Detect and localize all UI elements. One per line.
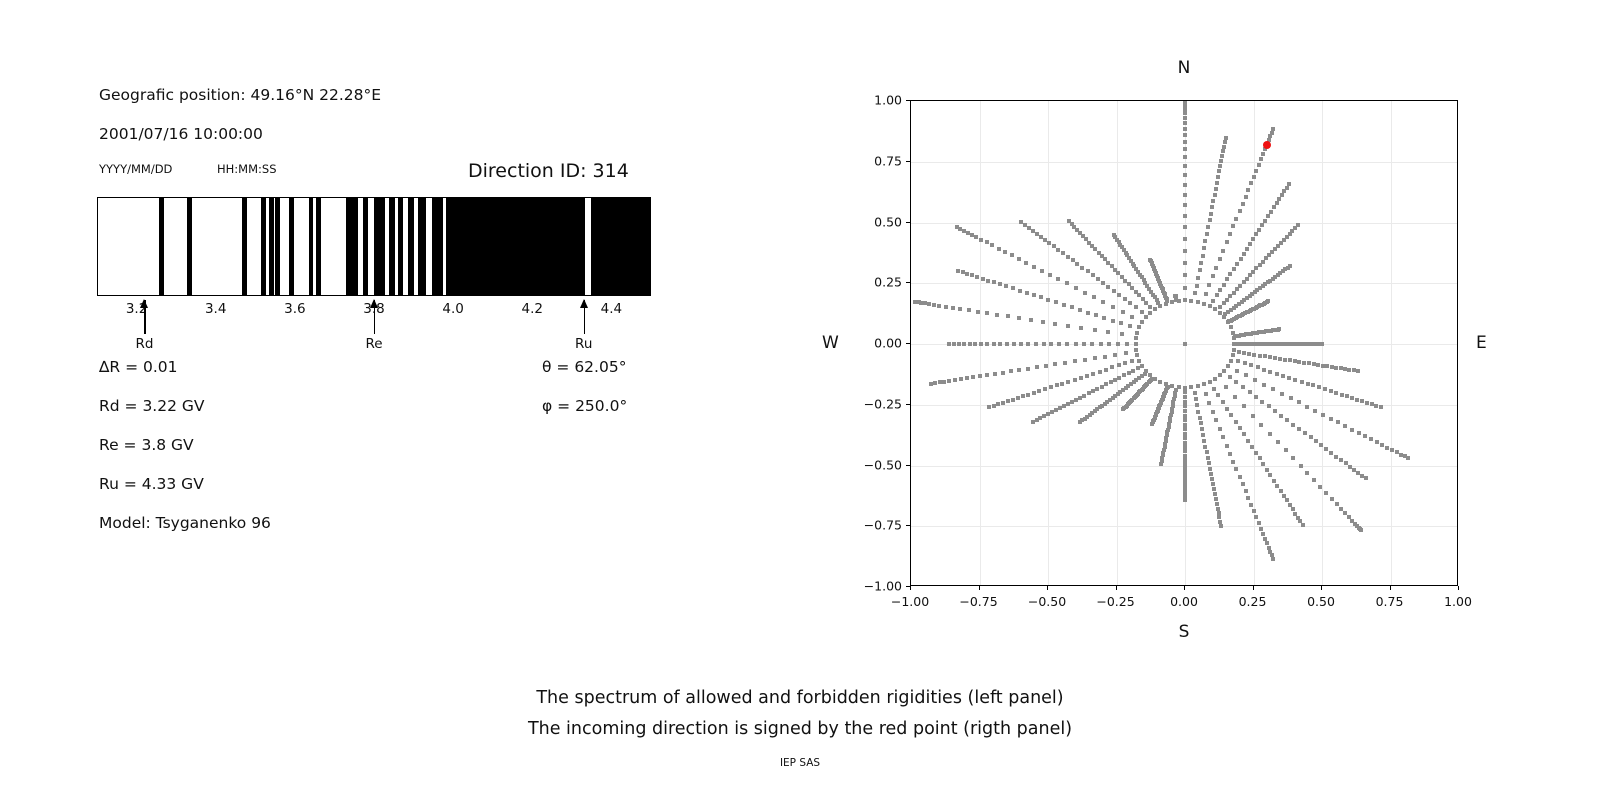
scatter-point <box>985 342 989 346</box>
x-tick-mark <box>1184 586 1185 590</box>
scatter-point <box>1116 271 1120 275</box>
scatter-point <box>1329 389 1333 393</box>
scatter-point <box>1218 305 1222 309</box>
scatter-point <box>978 374 982 378</box>
scatter-point <box>1214 418 1218 422</box>
scatter-point <box>1074 398 1078 402</box>
scatter-point <box>1309 435 1313 439</box>
scatter-point <box>1031 229 1035 233</box>
scatter-point <box>1140 310 1144 314</box>
forbidden-band <box>363 198 368 295</box>
scatter-point <box>1196 300 1200 304</box>
scatter-point <box>1050 410 1054 414</box>
scatter-point <box>1232 291 1236 295</box>
scatter-point <box>1183 155 1187 159</box>
scatter-point <box>975 275 979 279</box>
direction-map-x-tick-label: −1.00 <box>891 594 929 609</box>
scatter-point <box>1090 342 1094 346</box>
scatter-point <box>1083 291 1087 295</box>
scatter-point <box>1312 478 1316 482</box>
gridline-horizontal <box>911 526 1457 527</box>
marker-label: Re <box>365 336 382 352</box>
scatter-point <box>1226 364 1230 368</box>
scatter-point <box>992 404 996 408</box>
scatter-point <box>1043 238 1047 242</box>
scatter-point <box>1284 448 1288 452</box>
compass-south: S <box>1179 622 1190 642</box>
scatter-point <box>1121 310 1125 314</box>
scatter-point <box>1006 314 1010 318</box>
scatter-point <box>1236 359 1240 363</box>
scatter-point <box>1029 318 1033 322</box>
scatter-point <box>1092 295 1096 299</box>
scatter-point <box>1379 405 1383 409</box>
scatter-point <box>1208 218 1212 222</box>
scatter-point <box>1221 400 1225 404</box>
scatter-point <box>1058 406 1062 410</box>
scatter-point <box>1011 286 1015 290</box>
scatter-point <box>1037 389 1041 393</box>
scatter-point <box>985 240 989 244</box>
scatter-point <box>1067 219 1071 223</box>
y-tick-mark <box>906 404 910 405</box>
scatter-point <box>1196 410 1200 414</box>
scatter-point <box>1183 116 1187 120</box>
scatter-point <box>1055 383 1059 387</box>
scatter-point <box>1098 370 1102 374</box>
scatter-point <box>962 229 966 233</box>
scatter-point <box>932 303 936 307</box>
scatter-point <box>985 311 989 315</box>
scatter-point <box>1091 273 1095 277</box>
scatter-point <box>1054 408 1058 412</box>
scatter-point <box>1112 289 1116 293</box>
scatter-point <box>1095 387 1099 391</box>
scatter-point <box>1198 268 1202 272</box>
scatter-point <box>1276 440 1280 444</box>
scatter-point <box>1262 383 1266 387</box>
scatter-point <box>1065 281 1069 285</box>
y-tick-mark <box>906 222 910 223</box>
scatter-point <box>1206 456 1210 460</box>
scatter-point <box>1258 456 1262 460</box>
scatter-point <box>1216 393 1220 397</box>
direction-map-x-tick-label: 0.75 <box>1376 594 1404 609</box>
scatter-point <box>1297 427 1301 431</box>
scatter-point <box>1273 409 1277 413</box>
direction-map-y-tick-label: 1.00 <box>848 93 902 108</box>
scatter-point <box>1229 413 1233 417</box>
scatter-point <box>1229 359 1233 363</box>
x-tick-mark <box>1047 586 1048 590</box>
scatter-point <box>1261 152 1265 156</box>
scatter-point <box>1334 391 1338 395</box>
scatter-point <box>1285 498 1289 502</box>
scatter-point <box>1148 305 1152 309</box>
scatter-point <box>1222 369 1226 373</box>
direction-map-x-tick-label: −0.75 <box>959 594 997 609</box>
scatter-point <box>1128 324 1132 328</box>
scatter-point <box>1047 241 1051 245</box>
scatter-point <box>1220 154 1224 158</box>
figure-canvas: Geografic position: 49.16°N 22.28°E 2001… <box>0 0 1600 800</box>
scatter-point <box>1237 350 1241 354</box>
scatter-point <box>1183 237 1187 241</box>
scatter-point <box>1329 417 1333 421</box>
scatter-point <box>1066 402 1070 406</box>
scatter-point <box>1242 404 1246 408</box>
scatter-point <box>1183 418 1187 422</box>
scatter-point <box>1012 342 1016 346</box>
scatter-point <box>1205 232 1209 236</box>
scatter-point <box>1218 164 1222 168</box>
scatter-point <box>1100 385 1104 389</box>
scatter-point <box>1324 447 1328 451</box>
scatter-point <box>1183 147 1187 151</box>
scatter-point <box>979 342 983 346</box>
scatter-point <box>1257 163 1261 167</box>
scatter-point <box>1247 352 1251 356</box>
scatter-point <box>1183 183 1187 187</box>
forbidden-band <box>398 198 404 295</box>
scatter-point <box>1018 289 1022 293</box>
scatter-point <box>1202 302 1206 306</box>
scatter-point <box>1079 376 1083 380</box>
scatter-point <box>1128 301 1132 305</box>
scatter-point <box>1218 427 1222 431</box>
scatter-point <box>966 231 970 235</box>
scatter-point <box>1056 277 1060 281</box>
scatter-point <box>1273 356 1277 360</box>
scatter-point <box>1111 319 1115 323</box>
scatter-point <box>965 376 969 380</box>
scatter-point <box>1135 331 1139 335</box>
scatter-point <box>970 233 974 237</box>
scatter-point <box>1034 342 1038 346</box>
scatter-point <box>1301 523 1305 527</box>
scatter-point <box>1183 414 1187 418</box>
scatter-point <box>1321 413 1325 417</box>
scatter-point <box>1285 418 1289 422</box>
scatter-point <box>1039 295 1043 299</box>
scatter-point <box>1183 121 1187 125</box>
scatter-point <box>1125 342 1129 346</box>
direction-map-y-tick-label: −0.75 <box>848 518 902 533</box>
scatter-point <box>1070 305 1074 309</box>
scatter-point <box>1046 298 1050 302</box>
scatter-point <box>1252 353 1256 357</box>
scatter-point <box>1183 498 1187 502</box>
scatter-point <box>1261 532 1265 536</box>
scatter-point <box>1248 242 1252 246</box>
scatter-point <box>987 405 991 409</box>
scatter-point <box>1225 240 1229 244</box>
scatter-point <box>1268 370 1272 374</box>
scatter-point <box>1001 371 1005 375</box>
scatter-point <box>1215 502 1219 506</box>
scatter-point <box>1024 261 1028 265</box>
scatter-point <box>951 306 955 310</box>
scatter-point <box>1065 342 1069 346</box>
scatter-point <box>1215 293 1219 297</box>
scatter-point <box>1021 394 1025 398</box>
scatter-point <box>1231 460 1235 464</box>
scatter-point <box>1099 342 1103 346</box>
scatter-point <box>1213 492 1217 496</box>
param-theta: θ = 62.05° <box>542 358 626 376</box>
scatter-point <box>1199 421 1203 425</box>
scatter-point <box>1124 351 1128 355</box>
scatter-point <box>1229 325 1233 329</box>
scatter-point <box>1183 273 1187 277</box>
forbidden-band <box>261 198 266 295</box>
scatter-point <box>1206 225 1210 229</box>
scatter-point <box>961 270 965 274</box>
scatter-point <box>1043 387 1047 391</box>
scatter-point <box>1216 175 1220 179</box>
forbidden-band <box>309 198 314 295</box>
scatter-point <box>1334 455 1338 459</box>
scatter-point <box>1066 380 1070 384</box>
scatter-point <box>1183 140 1187 144</box>
scatter-point <box>1406 456 1410 460</box>
scatter-point <box>1183 390 1187 394</box>
scatter-point <box>990 243 994 247</box>
scatter-point <box>1263 537 1267 541</box>
scatter-point <box>1195 403 1199 407</box>
scatter-point <box>1074 286 1078 290</box>
scatter-point <box>1183 225 1187 229</box>
y-tick-mark <box>906 161 910 162</box>
scatter-point <box>1259 527 1263 531</box>
scatter-point <box>1096 277 1100 281</box>
scatter-point <box>1267 404 1271 408</box>
scatter-point <box>1390 448 1394 452</box>
scatter-point <box>1183 436 1187 440</box>
scatter-point <box>1117 376 1121 380</box>
scatter-point <box>1251 414 1255 418</box>
scatter-point <box>1213 307 1217 311</box>
scatter-point <box>1016 396 1020 400</box>
scatter-point <box>1281 374 1285 378</box>
scatter-point <box>1218 373 1222 377</box>
forbidden-band <box>374 198 385 295</box>
scatter-point <box>1219 524 1223 528</box>
scatter-point <box>1222 301 1226 305</box>
scatter-point <box>1238 426 1242 430</box>
marker-label: Rd <box>136 336 154 352</box>
scatter-point <box>986 279 990 283</box>
scatter-point <box>1211 482 1215 486</box>
scatter-point <box>1062 404 1066 408</box>
scatter-point <box>1343 424 1347 428</box>
scatter-point <box>1117 293 1121 297</box>
scatter-point <box>1137 359 1141 363</box>
x-tick-mark <box>1253 586 1254 590</box>
forbidden-band <box>346 198 358 295</box>
scatter-point <box>1268 473 1272 477</box>
scatter-point <box>1011 398 1015 402</box>
scatter-point <box>1183 203 1187 207</box>
scatter-point <box>1242 432 1246 436</box>
scatter-point <box>1241 482 1245 486</box>
scatter-point <box>1324 491 1328 495</box>
scatter-point <box>1056 248 1060 252</box>
scatter-point <box>1117 363 1121 367</box>
scatter-point <box>1238 209 1242 213</box>
scatter-point <box>1380 443 1384 447</box>
scatter-point <box>1102 316 1106 320</box>
scatter-point <box>1148 258 1152 262</box>
scatter-point <box>947 342 951 346</box>
direction-map-y-tick-label: 0.25 <box>848 275 902 290</box>
geographic-position: Geografic position: 49.16°N 22.28°E <box>99 86 381 104</box>
datetime-label: 2001/07/16 10:00:00 <box>99 125 263 143</box>
scatter-point <box>1222 315 1226 319</box>
direction-map-y-tick-label: 0.50 <box>848 214 902 229</box>
scatter-point <box>1233 395 1237 399</box>
scatter-point <box>1110 365 1114 369</box>
scatter-point <box>1345 394 1349 398</box>
arrow-up-icon <box>140 299 148 308</box>
scatter-point <box>1262 368 1266 372</box>
scatter-point <box>1196 384 1200 388</box>
forbidden-band <box>316 198 321 295</box>
scatter-point <box>1199 261 1203 265</box>
scatter-point <box>998 342 1002 346</box>
scatter-point <box>1296 223 1300 227</box>
spectrum-x-tick-label: 3.4 <box>205 301 226 317</box>
scatter-point <box>1130 315 1134 319</box>
scatter-point <box>1044 364 1048 368</box>
arrow-up-icon <box>370 299 378 308</box>
scatter-point <box>1183 111 1187 115</box>
scatter-point <box>1221 149 1225 153</box>
scatter-point <box>1195 284 1199 288</box>
scatter-point <box>953 378 957 382</box>
scatter-point <box>1280 193 1284 197</box>
scatter-point <box>1183 342 1187 346</box>
scatter-point <box>1213 193 1217 197</box>
scatter-point <box>981 277 985 281</box>
scatter-point <box>1004 284 1008 288</box>
scatter-point <box>1119 321 1123 325</box>
spectrum-x-axis: 3.23.43.63.84.04.24.4RdReRu <box>97 296 651 356</box>
scatter-point <box>1109 380 1113 384</box>
scatter-point <box>1246 188 1250 192</box>
scatter-point <box>1049 342 1053 346</box>
scatter-point <box>1137 293 1141 297</box>
scatter-point <box>1080 266 1084 270</box>
scatter-point <box>1280 392 1284 396</box>
scatter-point <box>1134 290 1138 294</box>
scatter-point <box>944 305 948 309</box>
scatter-point <box>1183 386 1187 390</box>
scatter-point <box>1196 276 1200 280</box>
scatter-point <box>1235 369 1239 373</box>
direction-map-y-tick-label: 0.00 <box>848 336 902 351</box>
scatter-point <box>1268 355 1272 359</box>
scatter-point <box>923 301 927 305</box>
scatter-point <box>1287 376 1291 380</box>
scatter-point <box>1249 503 1253 507</box>
scatter-point <box>955 225 959 229</box>
scatter-point <box>1123 279 1127 283</box>
scatter-point <box>1282 494 1286 498</box>
scatter-point <box>1321 364 1325 368</box>
scatter-point <box>1231 224 1235 228</box>
gridline-vertical <box>1391 101 1392 585</box>
scatter-point <box>1261 462 1265 466</box>
scatter-point <box>1203 445 1207 449</box>
scatter-point <box>1183 173 1187 177</box>
scatter-point <box>1026 342 1030 346</box>
scatter-point <box>1306 382 1310 386</box>
scatter-point <box>1211 410 1215 414</box>
scatter-point <box>1010 253 1014 257</box>
scatter-point <box>1293 359 1297 363</box>
scatter-point <box>1150 422 1154 426</box>
scatter-point <box>1244 489 1248 493</box>
scatter-point <box>1263 219 1267 223</box>
scatter-point <box>1032 293 1036 297</box>
scatter-point <box>1183 409 1187 413</box>
scatter-point <box>1183 395 1187 399</box>
scatter-point <box>1242 252 1246 256</box>
spectrum-x-tick-label: 4.4 <box>601 301 622 317</box>
scatter-point <box>1208 380 1212 384</box>
scatter-point <box>1228 452 1232 456</box>
forbidden-band <box>242 198 247 295</box>
scatter-point <box>1297 400 1301 404</box>
scatter-point <box>1120 332 1124 336</box>
forbidden-band <box>269 198 274 295</box>
scatter-point <box>1121 407 1125 411</box>
scatter-point <box>1209 472 1213 476</box>
scatter-point <box>1216 507 1220 511</box>
scatter-point <box>1136 366 1140 370</box>
scatter-point <box>1106 261 1110 265</box>
scatter-point <box>1214 266 1218 270</box>
scatter-point <box>973 342 977 346</box>
scatter-point <box>1134 342 1138 346</box>
scatter-point <box>1073 378 1077 382</box>
forbidden-band <box>289 198 294 295</box>
scatter-point <box>1041 320 1045 324</box>
direction-map-x-tick-label: −0.50 <box>1028 594 1066 609</box>
scatter-point <box>942 380 946 384</box>
scatter-point <box>1228 272 1232 276</box>
scatter-point <box>1249 363 1253 367</box>
scatter-point <box>1252 509 1256 513</box>
scatter-point <box>1123 361 1127 365</box>
scatter-point <box>1135 353 1139 357</box>
scatter-point <box>1106 330 1110 334</box>
scatter-point <box>1375 440 1379 444</box>
scatter-point <box>1078 396 1082 400</box>
scatter-point <box>1194 397 1198 401</box>
scatter-point <box>1101 300 1105 304</box>
scatter-point <box>1370 402 1374 406</box>
scatter-point <box>1205 450 1209 454</box>
scatter-point <box>1254 515 1258 519</box>
scatter-point <box>1094 313 1098 317</box>
scatter-point <box>1218 288 1222 292</box>
scatter-point <box>1272 205 1276 209</box>
scatter-point <box>1111 305 1115 309</box>
scatter-point <box>967 308 971 312</box>
scatter-point <box>992 342 996 346</box>
